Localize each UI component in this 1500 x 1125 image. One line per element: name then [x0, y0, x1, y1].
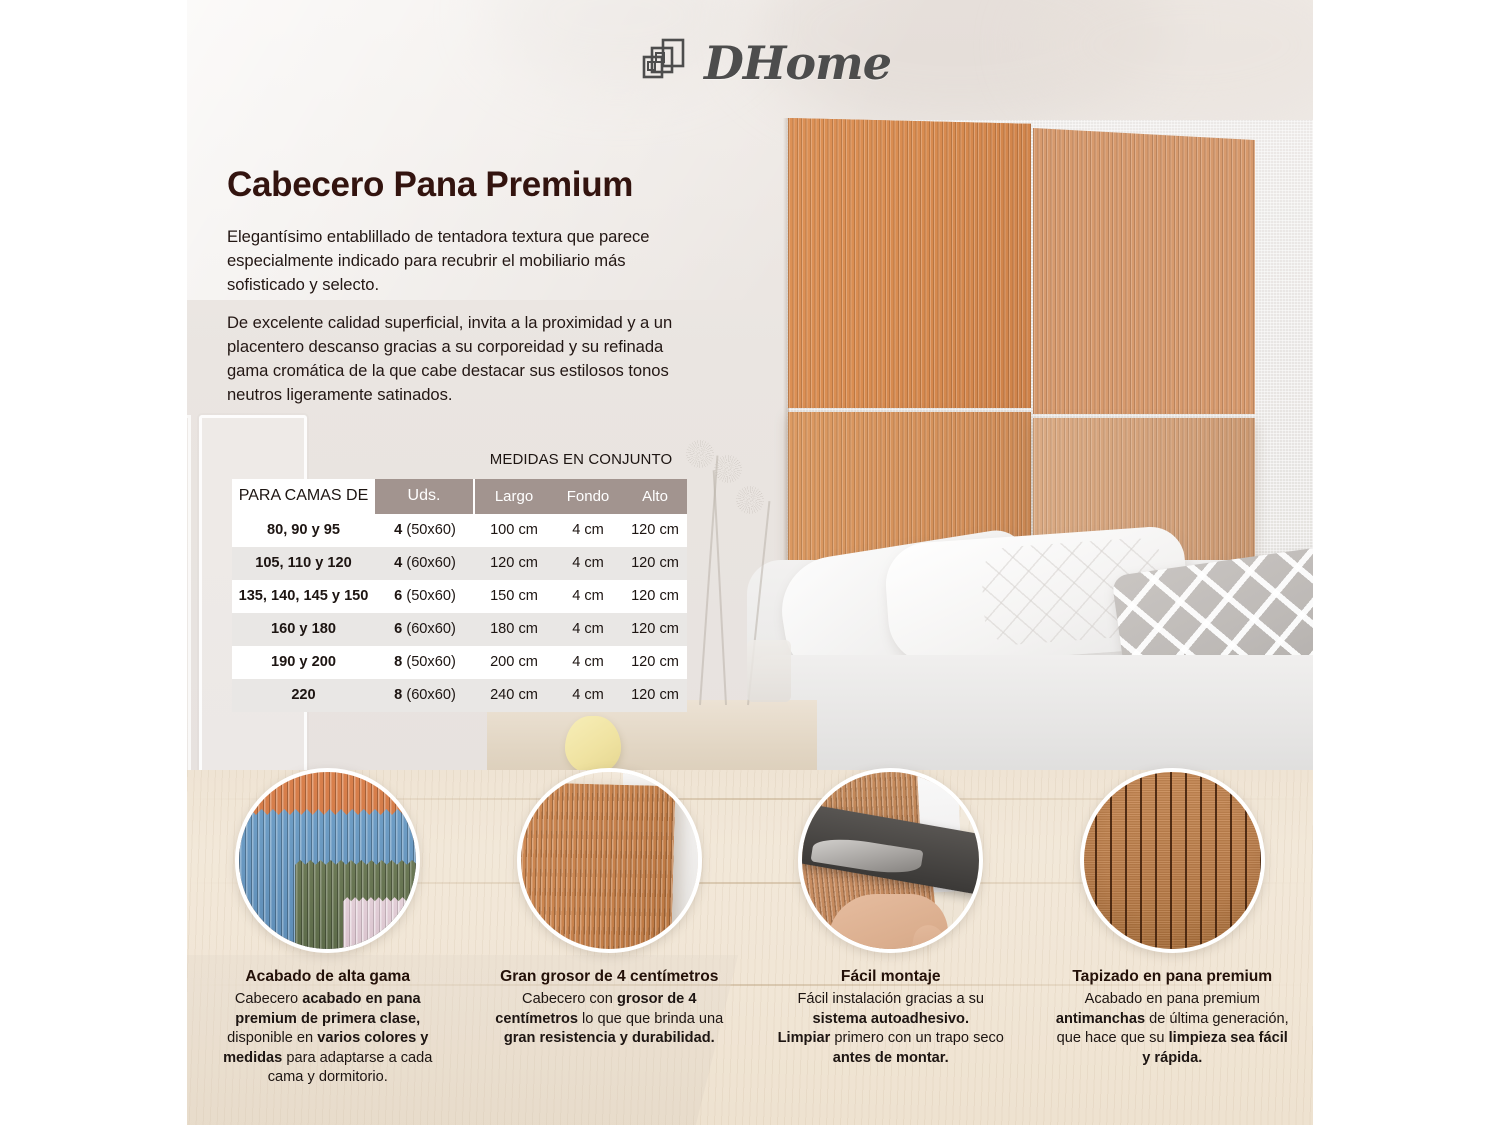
cell-units: 4 (60x60): [375, 547, 475, 580]
measures-group-caption: MEDIDAS EN CONJUNTO: [475, 451, 687, 468]
corduroy-panel: [517, 782, 675, 953]
brand-logo[interactable]: DHome: [642, 35, 891, 91]
cell-beds: 135, 140, 145 y 150: [232, 580, 375, 613]
dandelion-head: [714, 455, 742, 483]
table-row: 160 y 1806 (60x60)180 cm4 cm120 cm: [232, 613, 687, 646]
cell-largo: 200 cm: [475, 646, 553, 679]
white-vase: [747, 640, 791, 702]
cell-units: 4 (50x60): [375, 514, 475, 547]
cell-fondo: 4 cm: [553, 679, 623, 712]
infographic-canvas: DHome Cabecero Pana Premium Elegantísimo…: [0, 0, 1500, 1125]
feature-title: Gran grosor de 4 centímetros: [500, 967, 718, 986]
size-table-body: 80, 90 y 954 (50x60)100 cm4 cm120 cm105,…: [232, 514, 687, 712]
cell-largo: 240 cm: [475, 679, 553, 712]
table-row: 105, 110 y 1204 (60x60)120 cm4 cm120 cm: [232, 547, 687, 580]
swatch-pink: [343, 896, 420, 953]
table-row: 80, 90 y 954 (50x60)100 cm4 cm120 cm: [232, 514, 687, 547]
cell-alto: 120 cm: [623, 679, 687, 712]
column-header-largo: Largo: [475, 479, 553, 514]
cell-units: 8 (60x60): [375, 679, 475, 712]
column-header-units: Uds.: [375, 479, 475, 514]
cell-beds: 105, 110 y 120: [232, 547, 375, 580]
cell-beds: 80, 90 y 95: [232, 514, 375, 547]
yellow-vase: [565, 716, 621, 774]
table-row: 190 y 2008 (50x60)200 cm4 cm120 cm: [232, 646, 687, 679]
product-description-2: De excelente calidad superficial, invita…: [227, 311, 697, 407]
cell-units: 6 (50x60): [375, 580, 475, 613]
artboard: DHome Cabecero Pana Premium Elegantísimo…: [187, 0, 1313, 1125]
fabric-colour-swatches-photo: [235, 768, 420, 953]
feature-item: Tapizado en pana premium Acabado en pana…: [1032, 768, 1314, 1125]
product-description-1: Elegantísimo entablillado de tentadora t…: [227, 225, 697, 297]
cell-alto: 120 cm: [623, 547, 687, 580]
table-row: 135, 140, 145 y 1506 (50x60)150 cm4 cm12…: [232, 580, 687, 613]
cell-units: 8 (50x60): [375, 646, 475, 679]
cell-fondo: 4 cm: [553, 514, 623, 547]
table-header-row: PARA CAMAS DE Uds. Largo Fondo Alto: [232, 479, 687, 514]
brand-name: DHome: [704, 40, 891, 86]
cell-alto: 120 cm: [623, 613, 687, 646]
cell-fondo: 4 cm: [553, 580, 623, 613]
corduroy-macro-texture-photo: [1080, 768, 1265, 953]
cell-largo: 180 cm: [475, 613, 553, 646]
cell-largo: 100 cm: [475, 514, 553, 547]
feature-body: Acabado en pana premium antimanchas de ú…: [1053, 990, 1291, 1068]
cell-fondo: 4 cm: [553, 547, 623, 580]
cell-alto: 120 cm: [623, 514, 687, 547]
product-copy-block: Cabecero Pana Premium Elegantísimo entab…: [227, 165, 697, 421]
adhesive-backing-hand-photo: [798, 768, 983, 953]
feature-title: Fácil montaje: [841, 967, 941, 986]
column-header-beds: PARA CAMAS DE: [232, 479, 375, 514]
cell-fondo: 4 cm: [553, 646, 623, 679]
table-row: 2208 (60x60)240 cm4 cm120 cm: [232, 679, 687, 712]
vignette: [1084, 772, 1261, 949]
size-table: PARA CAMAS DE Uds. Largo Fondo Alto 80, …: [232, 479, 687, 712]
headboard-panel-top-right: [1033, 128, 1255, 414]
feature-item: Fácil montaje Fácil instalación gracias …: [750, 768, 1032, 1125]
cell-alto: 120 cm: [623, 646, 687, 679]
cell-alto: 120 cm: [623, 580, 687, 613]
panel-thickness-photo: [517, 768, 702, 953]
headboard-panel-top-left: [788, 118, 1031, 408]
page-title: Cabecero Pana Premium: [227, 165, 697, 205]
feature-item: Gran grosor de 4 centímetros Cabecero co…: [469, 768, 751, 1125]
dandelion-head: [736, 486, 764, 514]
feature-item: Acabado de alta gama Cabecero acabado en…: [187, 768, 469, 1125]
column-header-alto: Alto: [623, 479, 687, 514]
feature-body: Cabecero con grosor de 4 centímetros lo …: [490, 990, 728, 1049]
feature-title: Tapizado en pana premium: [1072, 967, 1272, 986]
feature-body: Fácil instalación gracias a su sistema a…: [772, 990, 1010, 1068]
feature-title: Acabado de alta gama: [245, 967, 410, 986]
cell-largo: 150 cm: [475, 580, 553, 613]
dandelion-head: [686, 440, 714, 468]
cell-beds: 160 y 180: [232, 613, 375, 646]
cell-units: 6 (60x60): [375, 613, 475, 646]
cell-fondo: 4 cm: [553, 613, 623, 646]
feature-strip: Acabado de alta gama Cabecero acabado en…: [187, 768, 1313, 1125]
column-header-fondo: Fondo: [553, 479, 623, 514]
feature-body: Cabecero acabado en pana premium de prim…: [209, 990, 447, 1088]
cell-beds: 190 y 200: [232, 646, 375, 679]
cell-largo: 120 cm: [475, 547, 553, 580]
wall-moulding-panel: [187, 415, 191, 775]
nested-squares-icon: [642, 35, 694, 91]
cell-beds: 220: [232, 679, 375, 712]
